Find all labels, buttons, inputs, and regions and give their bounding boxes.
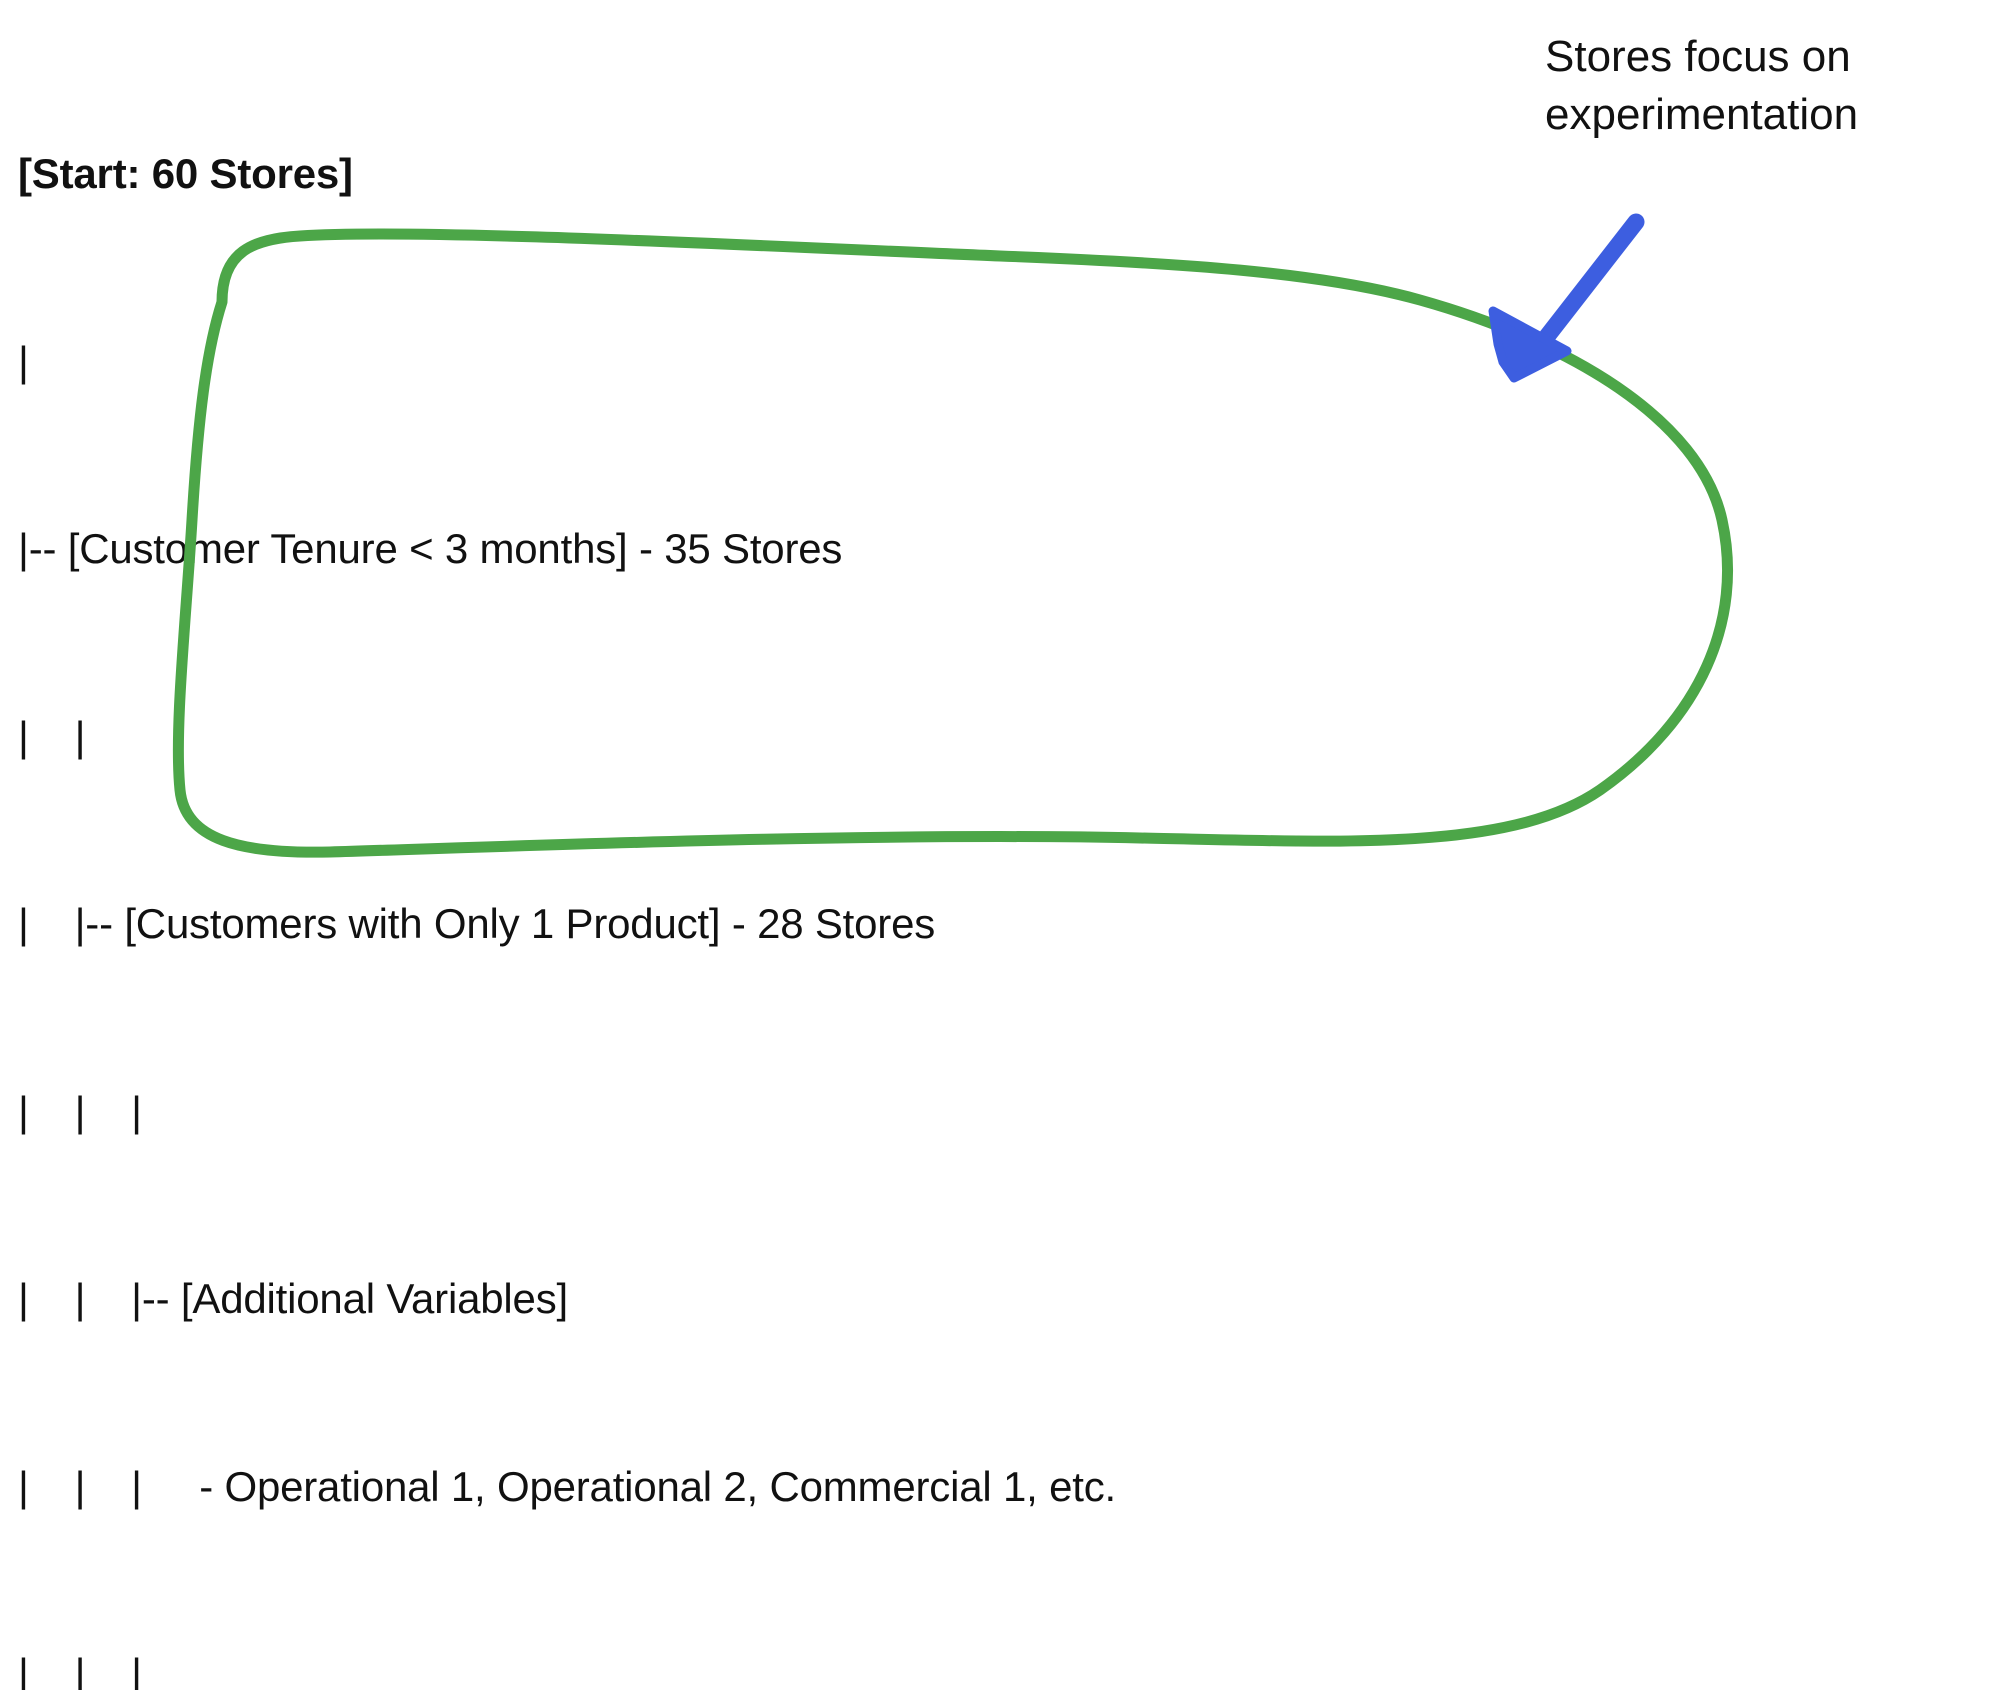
tree-line-additional-vars: | | |-- [Additional Variables]: [18, 1268, 1918, 1331]
tree-line-root: [Start: 60 Stores]: [18, 143, 1918, 206]
tree-line-vars-list-1: | | | - Operational 1, Operational 2, Co…: [18, 1456, 1918, 1519]
tree-line-pipe-4: | | |: [18, 1643, 1918, 1690]
tree-line-pipe-1: |: [18, 331, 1918, 394]
diagram-canvas: [Start: 60 Stores] | |-- [Customer Tenur…: [0, 0, 2005, 1690]
tree-line-only-1-product: | |-- [Customers with Only 1 Product] - …: [18, 893, 1918, 956]
annotation-line-1: Stores focus on: [1545, 28, 1985, 86]
tree-diagram: [Start: 60 Stores] | |-- [Customer Tenur…: [18, 18, 1918, 1690]
annotation-label: Stores focus on experimentation: [1545, 28, 1985, 144]
annotation-line-2: experimentation: [1545, 86, 1985, 144]
tree-line-pipe-3: | | |: [18, 1081, 1918, 1144]
tree-line-tenure-lt3: |-- [Customer Tenure < 3 months] - 35 St…: [18, 518, 1918, 581]
tree-line-pipe-2: | |: [18, 706, 1918, 769]
